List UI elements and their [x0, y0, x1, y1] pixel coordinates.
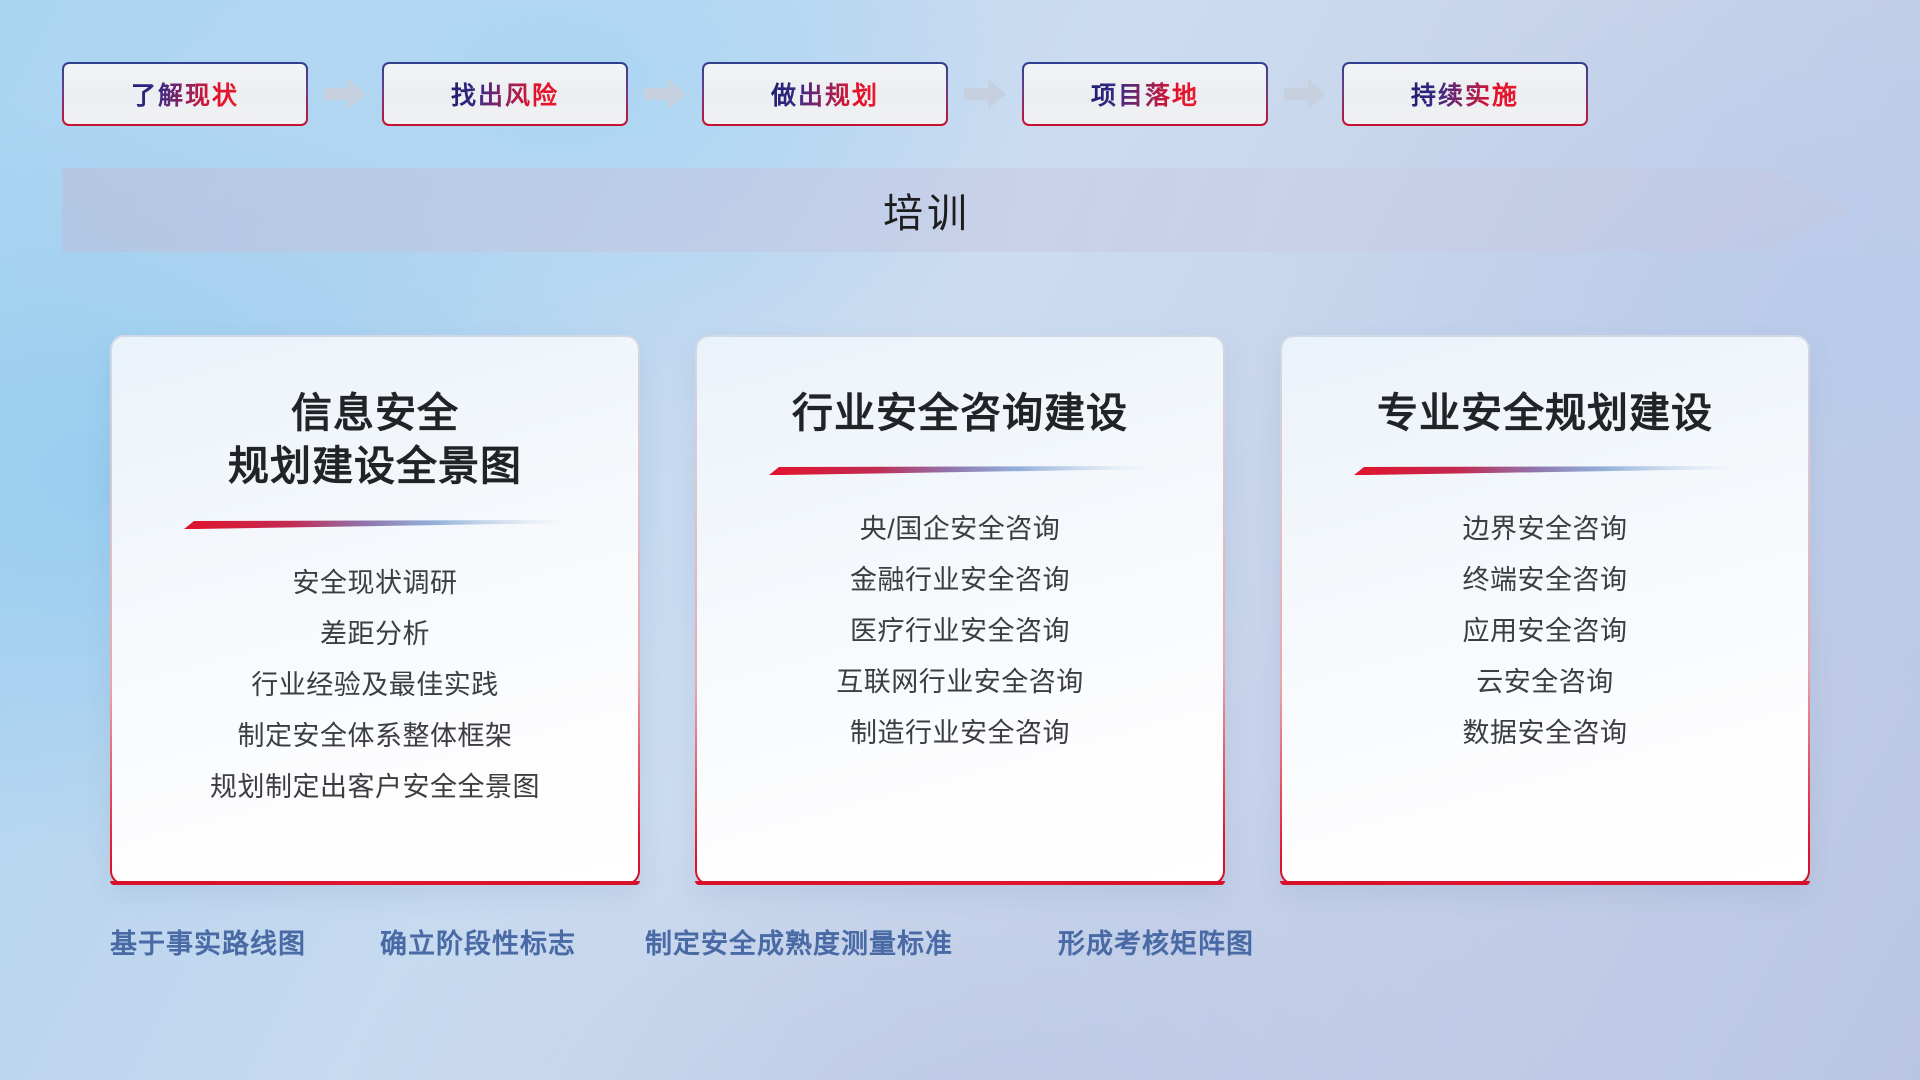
card-list-item: 云安全咨询 [1476, 662, 1614, 703]
card-list-item: 央/国企安全咨询 [860, 509, 1061, 550]
card-row: 信息安全 规划建设全景图安全现状调研差距分析行业经验及最佳实践制定安全体系整体框… [110, 335, 1810, 885]
card-list-item: 边界安全咨询 [1463, 509, 1628, 550]
arrow-right-icon [964, 79, 1006, 109]
card-title: 行业安全咨询建设 [792, 387, 1128, 440]
process-step-row: 了解现状找出风险做出规划项目落地持续实施 [62, 62, 1858, 126]
step-box-5[interactable]: 持续实施 [1342, 62, 1588, 126]
card-list-item: 安全现状调研 [293, 563, 458, 604]
step-box-3[interactable]: 做出规划 [702, 62, 948, 126]
step-label: 持续实施 [1411, 76, 1519, 112]
card-list-item: 金融行业安全咨询 [850, 560, 1070, 601]
service-card-2[interactable]: 行业安全咨询建设央/国企安全咨询金融行业安全咨询医疗行业安全咨询互联网行业安全咨… [695, 335, 1225, 885]
service-card-1[interactable]: 信息安全 规划建设全景图安全现状调研差距分析行业经验及最佳实践制定安全体系整体框… [110, 335, 640, 885]
service-card-3[interactable]: 专业安全规划建设边界安全咨询终端安全咨询应用安全咨询云安全咨询数据安全咨询 [1280, 335, 1810, 885]
footnote-row: 基于事实路线图确立阶段性标志制定安全成熟度测量标准形成考核矩阵图 [0, 922, 1920, 966]
card-list-item: 规划制定出客户安全全景图 [210, 767, 540, 808]
card-divider [769, 466, 1151, 475]
card-list-item: 医疗行业安全咨询 [850, 611, 1070, 652]
card-item-list: 安全现状调研差距分析行业经验及最佳实践制定安全体系整体框架规划制定出客户安全全景… [142, 563, 608, 808]
card-divider [1354, 466, 1736, 475]
step-box-4[interactable]: 项目落地 [1022, 62, 1268, 126]
card-list-item: 数据安全咨询 [1463, 713, 1628, 754]
card-list-item: 互联网行业安全咨询 [836, 662, 1084, 703]
footnote-label-4: 形成考核矩阵图 [1058, 922, 1254, 961]
arrow-right-icon [1284, 79, 1326, 109]
arrow-right-icon [324, 79, 366, 109]
footnote-label-3: 制定安全成熟度测量标准 [645, 922, 953, 961]
step-box-2[interactable]: 找出风险 [382, 62, 628, 126]
banner-title: 培训 [883, 181, 971, 239]
arrow-right-icon [644, 79, 686, 109]
card-list-item: 制定安全体系整体框架 [238, 716, 513, 757]
card-title: 专业安全规划建设 [1377, 387, 1713, 440]
card-item-list: 央/国企安全咨询金融行业安全咨询医疗行业安全咨询互联网行业安全咨询制造行业安全咨… [727, 509, 1193, 754]
step-label: 项目落地 [1091, 76, 1199, 112]
card-list-item: 差距分析 [320, 614, 430, 655]
card-list-item: 终端安全咨询 [1463, 560, 1628, 601]
card-title: 信息安全 规划建设全景图 [228, 387, 522, 494]
step-label: 做出规划 [771, 76, 879, 112]
step-label: 了解现状 [131, 76, 239, 112]
footnote-label-2: 确立阶段性标志 [380, 922, 576, 961]
card-item-list: 边界安全咨询终端安全咨询应用安全咨询云安全咨询数据安全咨询 [1312, 509, 1778, 754]
step-box-1[interactable]: 了解现状 [62, 62, 308, 126]
slide-canvas: 了解现状找出风险做出规划项目落地持续实施 培训 信息安全 规划建设全景图安全现状… [0, 0, 1920, 1080]
card-divider [184, 520, 566, 529]
card-list-item: 行业经验及最佳实践 [251, 665, 499, 706]
card-list-item: 制造行业安全咨询 [850, 713, 1070, 754]
footnote-label-1: 基于事实路线图 [110, 922, 306, 961]
step-label: 找出风险 [451, 76, 559, 112]
card-list-item: 应用安全咨询 [1463, 611, 1628, 652]
training-banner: 培训 [62, 168, 1852, 252]
